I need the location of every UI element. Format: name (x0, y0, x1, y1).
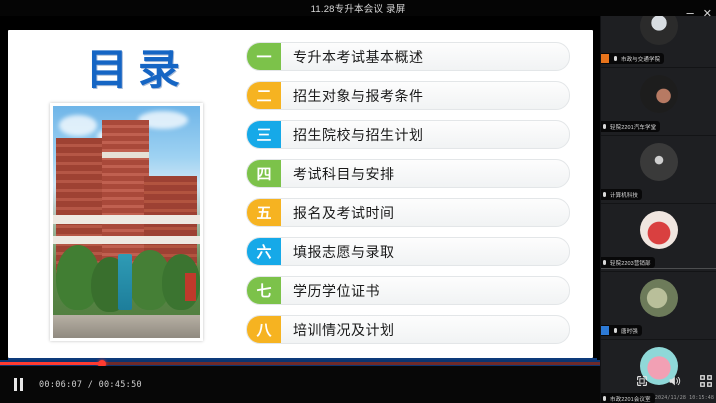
minimize-button[interactable]: – (687, 6, 694, 19)
participant-nametag: 轻院2203营销部 (601, 257, 655, 268)
participant-nametag: 唐时强 (601, 325, 642, 336)
microphone-icon (612, 327, 618, 335)
participant-nametag: 轻院2201汽车学堂 (601, 121, 660, 132)
fullscreen-icon[interactable] (699, 374, 713, 388)
avatar (640, 75, 678, 113)
screenshot-icon[interactable] (635, 374, 649, 388)
participant-name: 计算机科技 (610, 191, 638, 199)
campus-photo-frame (50, 103, 203, 341)
microphone-icon (601, 259, 607, 267)
agenda-number-4: 四 (247, 160, 281, 187)
participants-panel: 市政与交通学院 轻院2201汽车学堂 计算机科技 (600, 0, 716, 403)
microphone-icon (601, 123, 607, 131)
participant-nametag: 市政2201会议室 (601, 393, 655, 403)
avatar (640, 211, 678, 249)
panel-divider (601, 268, 716, 269)
participant-name: 市政2201会议室 (610, 395, 651, 403)
agenda-label-5: 报名及考试时间 (293, 203, 395, 223)
seek-progress-fill (0, 362, 102, 365)
agenda-label-4: 考试科目与安排 (293, 164, 395, 184)
microphone-icon (612, 55, 618, 63)
close-button[interactable]: ✕ (703, 9, 712, 20)
agenda-item-6[interactable]: 六 填报志愿与录取 (246, 237, 570, 266)
agenda-item-5[interactable]: 五 报名及考试时间 (246, 198, 570, 227)
panel-control-bar (635, 373, 713, 389)
microphone-icon (601, 395, 607, 403)
window-titlebar: 11.28专升本会议 录屏 (0, 0, 716, 16)
agenda-label-7: 学历学位证书 (293, 281, 380, 301)
participant-nametag: 市政与交通学院 (601, 53, 664, 64)
agenda-number-7: 七 (247, 277, 281, 304)
participant-name: 轻院2203营销部 (610, 259, 651, 267)
timecode-label: 00:06:07 / 00:45:50 (39, 380, 142, 390)
window-controls: – ✕ (668, 6, 712, 22)
shared-screen-stage: 目录 (0, 16, 600, 403)
pause-icon[interactable] (14, 378, 25, 391)
recording-datestamp: 2024/11/28 10:15:48 (655, 395, 714, 401)
agenda-number-5: 五 (247, 199, 281, 226)
speaking-badge-icon (601, 326, 609, 335)
slide-left-column: 目录 (8, 30, 236, 358)
participant-tile[interactable]: 轻院2203营销部 (601, 204, 716, 272)
agenda-item-8[interactable]: 八 培训情况及计划 (246, 315, 570, 344)
participant-name: 唐时强 (621, 327, 638, 335)
agenda-item-3[interactable]: 三 招生院校与招生计划 (246, 120, 570, 149)
agenda-number-2: 二 (247, 82, 281, 109)
agenda-label-6: 填报志愿与录取 (293, 242, 395, 262)
agenda-item-2[interactable]: 二 招生对象与报考条件 (246, 81, 570, 110)
participant-name: 轻院2201汽车学堂 (610, 123, 656, 131)
participant-tile[interactable]: 计算机科技 (601, 136, 716, 204)
campus-photo (53, 106, 200, 338)
window-title: 11.28专升本会议 录屏 (311, 1, 406, 15)
agenda-label-3: 招生院校与招生计划 (293, 125, 424, 145)
agenda-item-4[interactable]: 四 考试科目与安排 (246, 159, 570, 188)
avatar (640, 143, 678, 181)
avatar (640, 279, 678, 317)
participant-tile[interactable]: 轻院2201汽车学堂 (601, 68, 716, 136)
participant-name: 市政与交通学院 (621, 55, 660, 63)
recording-player-window: 11.28专升本会议 录屏 – ✕ 目录 (0, 0, 716, 403)
participant-tile[interactable]: 市政2201会议室 (601, 340, 716, 403)
host-badge-icon (601, 54, 609, 63)
agenda-number-1: 一 (247, 43, 281, 70)
agenda-label-2: 招生对象与报考条件 (293, 86, 424, 106)
participant-nametag: 计算机科技 (601, 189, 642, 200)
slide-agenda-list: 一 专升本考试基本概述 二 招生对象与报考条件 三 招生院校与招生计划 四 考试… (236, 30, 593, 358)
agenda-label-1: 专升本考试基本概述 (293, 47, 424, 67)
agenda-item-7[interactable]: 七 学历学位证书 (246, 276, 570, 305)
microphone-icon (601, 191, 607, 199)
agenda-item-1[interactable]: 一 专升本考试基本概述 (246, 42, 570, 71)
video-seek-bar[interactable] (0, 362, 600, 365)
slide-heading: 目录 (63, 42, 213, 100)
agenda-number-8: 八 (247, 316, 281, 343)
playback-controls: 00:06:07 / 00:45:50 (0, 366, 600, 403)
participant-tile[interactable]: 唐时强 (601, 272, 716, 340)
volume-icon[interactable] (667, 374, 681, 388)
agenda-number-6: 六 (247, 238, 281, 265)
presentation-slide: 目录 (8, 30, 593, 358)
agenda-label-8: 培训情况及计划 (293, 320, 395, 340)
agenda-number-3: 三 (247, 121, 281, 148)
